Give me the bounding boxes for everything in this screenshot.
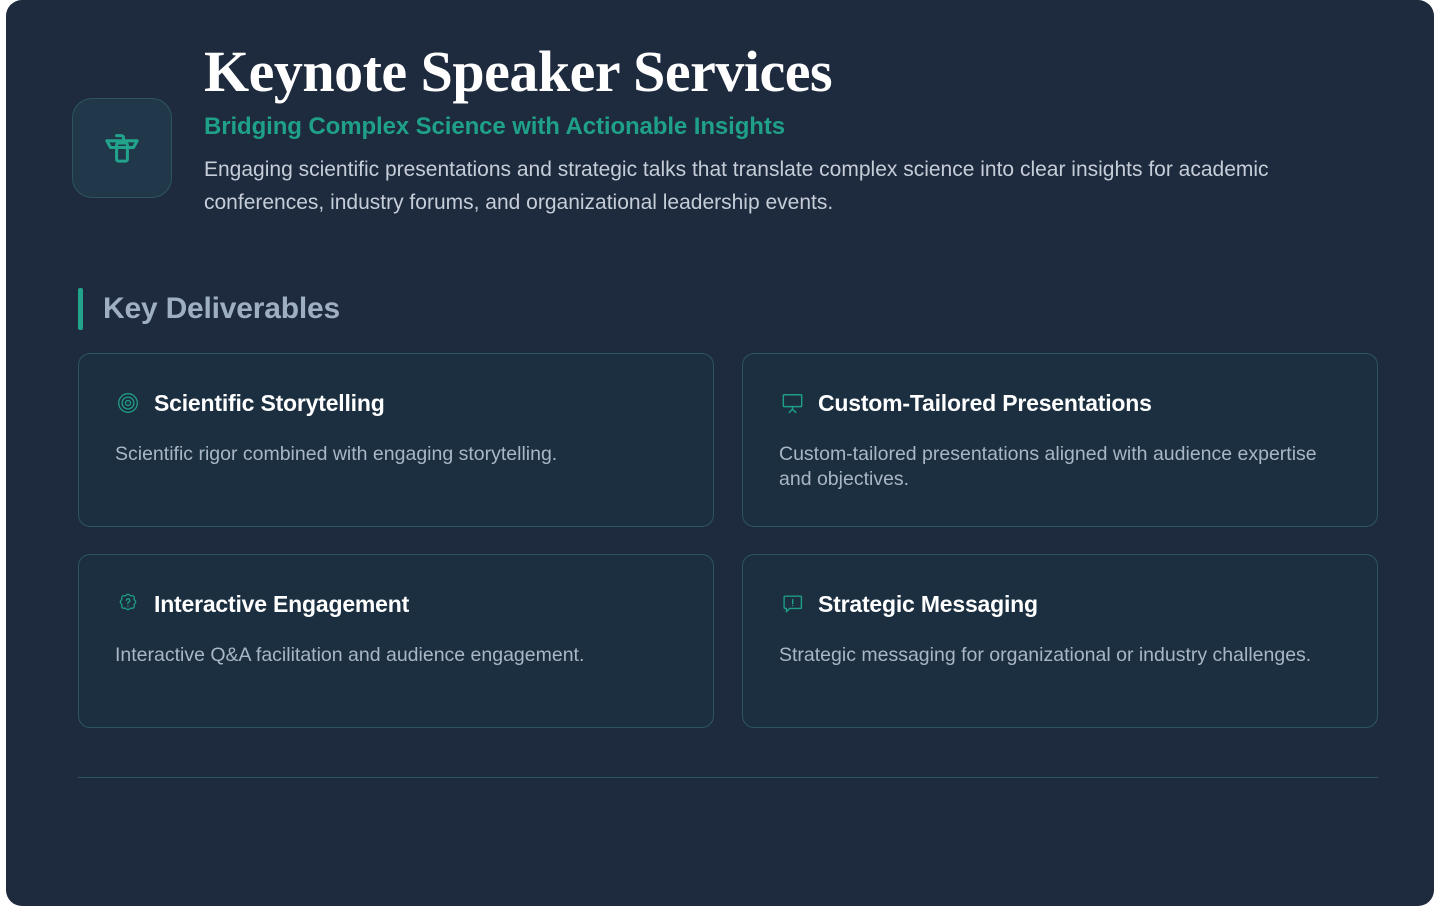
deliverables-grid: Scientific Storytelling Scientific rigor… — [78, 353, 1378, 728]
page-description: Engaging scientific presentations and st… — [204, 153, 1324, 219]
message-alert-icon — [779, 591, 805, 617]
lectern-podium-icon — [96, 120, 148, 177]
card-header: Scientific Storytelling — [115, 386, 677, 420]
card-header: Custom-Tailored Presentations — [779, 386, 1341, 420]
deliverable-card[interactable]: Strategic Messaging Strategic messaging … — [742, 554, 1378, 728]
card-description: Strategic messaging for organizational o… — [779, 643, 1319, 668]
presentation-board-icon — [779, 390, 805, 416]
deliverable-card[interactable]: Interactive Engagement Interactive Q&A f… — [78, 554, 714, 728]
logo-badge — [72, 98, 172, 198]
question-badge-icon — [115, 591, 141, 617]
page-title: Keynote Speaker Services — [204, 42, 1374, 103]
section-accent-bar — [78, 288, 83, 330]
card-title: Interactive Engagement — [154, 591, 409, 618]
card-description: Scientific rigor combined with engaging … — [115, 442, 655, 467]
deliverable-card[interactable]: Scientific Storytelling Scientific rigor… — [78, 353, 714, 527]
page-subtitle: Bridging Complex Science with Actionable… — [204, 113, 1374, 141]
card-description: Interactive Q&A facilitation and audienc… — [115, 643, 655, 668]
target-concentric-circles-icon — [115, 390, 141, 416]
card-title: Scientific Storytelling — [154, 390, 385, 417]
section-heading: Key Deliverables — [78, 288, 340, 330]
header-text-block: Keynote Speaker Services Bridging Comple… — [204, 40, 1374, 219]
slide-canvas: Keynote Speaker Services Bridging Comple… — [6, 0, 1434, 906]
card-description: Custom-tailored presentations aligned wi… — [779, 442, 1319, 493]
card-header: Strategic Messaging — [779, 587, 1341, 621]
section-title: Key Deliverables — [103, 292, 340, 326]
card-header: Interactive Engagement — [115, 587, 677, 621]
card-title: Strategic Messaging — [818, 591, 1038, 618]
deliverable-card[interactable]: Custom-Tailored Presentations Custom-tai… — [742, 353, 1378, 527]
header: Keynote Speaker Services Bridging Comple… — [72, 40, 1374, 219]
card-title: Custom-Tailored Presentations — [818, 390, 1152, 417]
footer-divider — [78, 777, 1378, 778]
